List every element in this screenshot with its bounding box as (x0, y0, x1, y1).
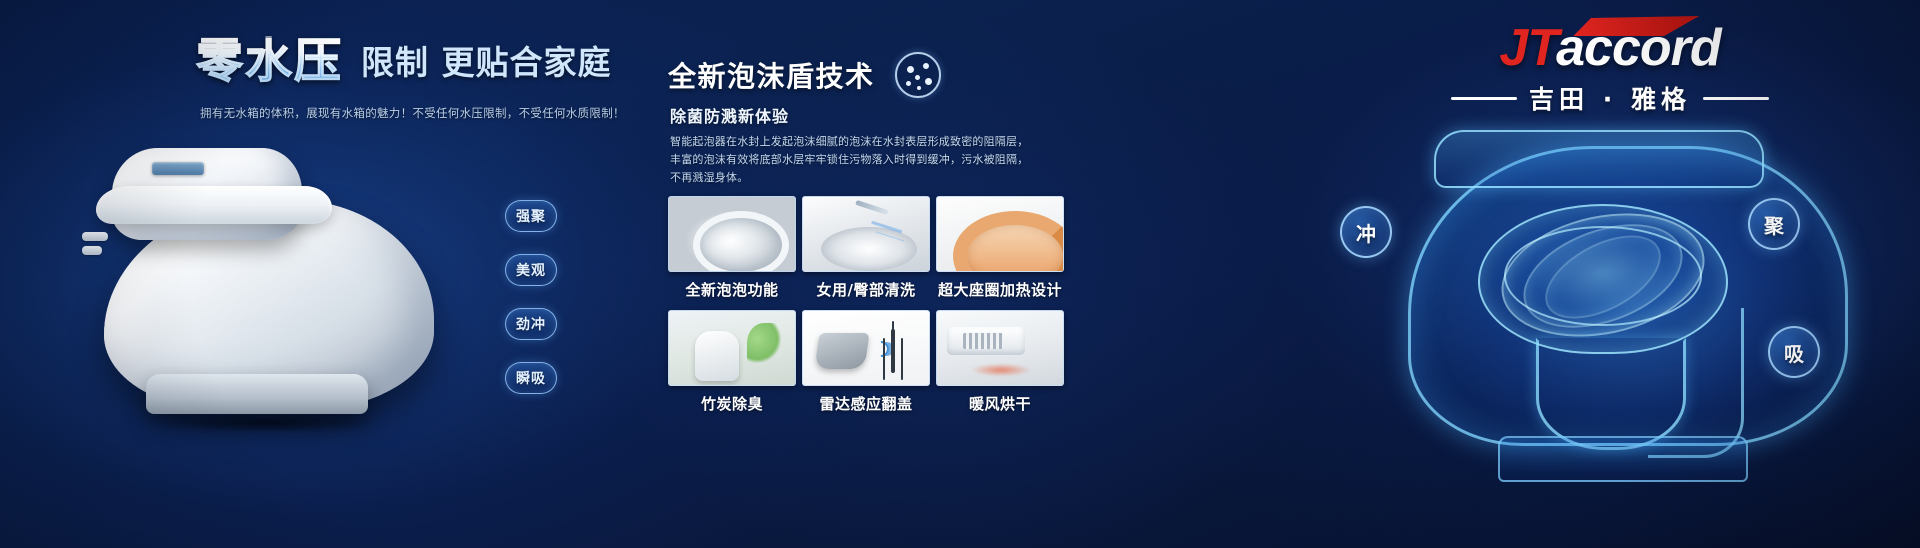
feature-cell[interactable]: 竹炭除臭 (668, 310, 796, 414)
badge-circle-xi: 吸 (1768, 326, 1820, 378)
feature-label: 竹炭除臭 (668, 393, 796, 414)
left-section: 零水压 限制 更贴合家庭 拥有无水箱的体积，展现有水箱的魅力！不受任何水压限制，… (0, 0, 630, 548)
feature-label: 雷达感应翻盖 (802, 393, 930, 414)
feature-label: 女用/臀部清洗 (802, 279, 930, 300)
middle-heading-row: 全新泡沫盾技术 (668, 52, 941, 98)
middle-body-text: 智能起泡器在水封上发起泡沫细腻的泡沫在水封表层形成致密的阻隔层， 丰富的泡沫有效… (670, 133, 1000, 187)
feature-thumbnail-wash (802, 196, 930, 272)
feature-thumbnail-bubble (668, 196, 796, 272)
body-line: 丰富的泡沫有效将底部水层牢牢锁住污物落入时得到缓冲，污水被阻隔， (670, 151, 1000, 169)
feature-thumbnail-heated-seat (936, 196, 1064, 272)
middle-section: 全新泡沫盾技术 除菌防溅新体验 智能起泡器在水封上发起泡沫细腻的泡沫在水封表层形… (668, 0, 1248, 548)
body-line: 不再溅湿身体。 (670, 169, 1000, 187)
toilet-base (146, 374, 368, 414)
badge-pill: 美观 (505, 254, 557, 286)
middle-subtitle: 除菌防溅新体验 (670, 103, 789, 127)
xray-base (1498, 436, 1748, 482)
badge-circle-chong: 冲 (1340, 206, 1392, 258)
badge-pill: 瞬吸 (505, 362, 557, 394)
badge-circle-ju: 聚 (1748, 198, 1800, 250)
feature-label: 超大座圈加热设计 (936, 279, 1064, 300)
feature-cell[interactable]: 暖风烘干 (936, 310, 1064, 414)
right-section: JTaccord 吉田 · 雅格 冲 聚 吸 (1290, 0, 1920, 548)
feature-cell[interactable]: 女用/臀部清洗 (802, 196, 930, 300)
left-badge-list: 强聚 美观 劲冲 瞬吸 (505, 200, 557, 394)
feature-cell[interactable]: 全新泡泡功能 (668, 196, 796, 300)
logo-rule-left (1451, 97, 1517, 100)
logo-rule-right (1703, 97, 1769, 100)
feature-grid: 全新泡泡功能 女用/臀部清洗 超大座圈加热设计 竹炭除臭 雷达感应翻盖 (668, 196, 1064, 414)
promo-banner: 零水压 限制 更贴合家庭 拥有无水箱的体积，展现有水箱的魅力！不受任何水压限制，… (0, 0, 1920, 548)
toilet-button-secondary-icon (82, 246, 102, 255)
feature-thumbnail-radar-lid (802, 310, 930, 386)
logo-chinese-row: 吉田 · 雅格 (1420, 80, 1800, 116)
feature-label: 暖风烘干 (936, 393, 1064, 414)
control-panel-icon (152, 162, 204, 175)
xray-lid (1434, 130, 1764, 188)
feature-cell[interactable]: 超大座圈加热设计 (936, 196, 1064, 300)
xray-diagram: 冲 聚 吸 (1348, 112, 1908, 532)
logo-chinese-name: 吉田 · 雅格 (1529, 80, 1691, 116)
feature-thumbnail-warm-dry (936, 310, 1064, 386)
badge-pill: 强聚 (505, 200, 557, 232)
feature-label: 全新泡泡功能 (668, 279, 796, 300)
vent-icon (963, 333, 1003, 349)
headline-sub: 限制 更贴合家庭 (361, 44, 612, 85)
headline-description: 拥有无水箱的体积，展现有水箱的魅力！不受任何水压限制，不受任何水质限制！ (200, 105, 620, 121)
logo-wordmark-jt: JT (1499, 19, 1556, 77)
product-photo-toilet (60, 128, 480, 458)
toilet-lid (96, 186, 332, 224)
feature-thumbnail-deodorize (668, 310, 796, 386)
bubble-icon (895, 52, 941, 98)
feature-cell[interactable]: 雷达感应翻盖 (802, 310, 930, 414)
toilet-button-icon (82, 232, 108, 241)
brand-logo[interactable]: JTaccord 吉田 · 雅格 (1420, 22, 1800, 116)
headline-main: 零水压 (196, 38, 343, 85)
logo-wordmark: JTaccord (1499, 22, 1720, 74)
badge-pill: 劲冲 (505, 308, 557, 340)
body-line: 智能起泡器在水封上发起泡沫细腻的泡沫在水封表层形成致密的阻隔层， (670, 133, 1000, 151)
radar-wave-icon (870, 338, 893, 361)
left-headline: 零水压 限制 更贴合家庭 (196, 38, 612, 85)
middle-title: 全新泡沫盾技术 (668, 55, 875, 95)
